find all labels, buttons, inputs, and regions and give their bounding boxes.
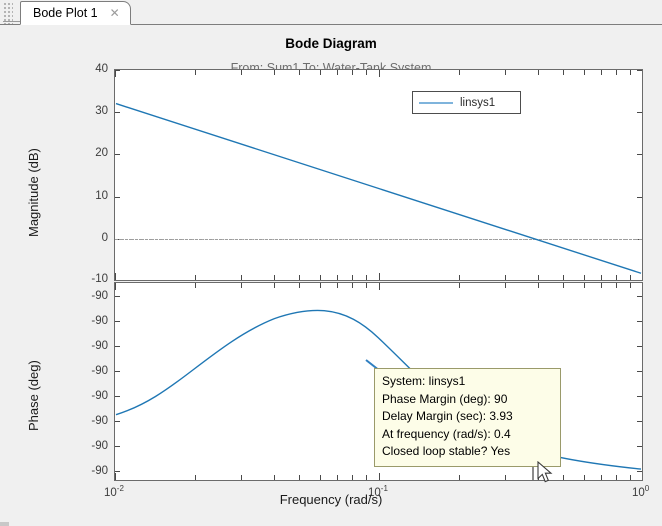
tab-label: Bode Plot 1 [33, 6, 98, 20]
tick-mark [642, 283, 643, 290]
legend[interactable]: linsys1 [412, 91, 521, 114]
tick-label: -90 [68, 340, 108, 352]
magnitude-axes[interactable] [114, 69, 643, 281]
mouse-cursor-icon [537, 461, 553, 485]
tick-label: -90 [68, 290, 108, 302]
tab-bar-divider [3, 21, 21, 22]
close-icon[interactable]: ✕ [108, 7, 122, 19]
tick-label: -90 [68, 390, 108, 402]
frequency-axis-label: Frequency (rad/s) [0, 492, 662, 507]
drag-handle-grip-icon[interactable] [4, 3, 13, 21]
tick-mark [115, 280, 120, 281]
datatip-line-frequency: At frequency (rad/s): 0.4 [382, 426, 554, 444]
tick-mark [642, 70, 643, 77]
datatip-line-stability: Closed loop stable? Yes [382, 443, 554, 461]
datatip-line-system: System: linsys1 [382, 373, 554, 391]
page-title: Bode Diagram [0, 36, 662, 51]
legend-label: linsys1 [460, 97, 495, 109]
tab-bar: Bode Plot 1 ✕ [0, 0, 662, 25]
tab-bode-plot-1[interactable]: Bode Plot 1 ✕ [20, 1, 131, 25]
magnitude-axis-label: Magnitude (dB) [26, 148, 41, 237]
tick-label: -90 [68, 440, 108, 452]
tick-label: 0 [68, 232, 108, 244]
tick-label: -90 [68, 365, 108, 377]
tick-label: -10 [68, 273, 108, 285]
bode-plot-window: Bode Plot 1 ✕ Bode Diagram From: Sum1 To… [0, 0, 662, 526]
tick-label: 10 [68, 190, 108, 202]
datatip-line-delay-margin: Delay Margin (sec): 3.93 [382, 408, 554, 426]
legend-color-swatch [419, 102, 453, 104]
tick-label: -90 [68, 465, 108, 477]
datatip-line-phase-margin: Phase Margin (deg): 90 [382, 391, 554, 409]
tick-label: 40 [68, 63, 108, 75]
tick-mark [642, 473, 643, 480]
tick-label: -90 [68, 415, 108, 427]
tick-label: -90 [68, 315, 108, 327]
datatip-tooltip[interactable]: System: linsys1 Phase Margin (deg): 90 D… [374, 368, 561, 467]
tick-label: 30 [68, 105, 108, 117]
magnitude-trace [115, 70, 642, 280]
phase-axis-label: Phase (deg) [26, 360, 41, 431]
tick-mark [637, 280, 642, 281]
figure-canvas: Bode Diagram From: Sum1 To: Water-Tank S… [0, 25, 662, 526]
figure-corner-handle [0, 522, 9, 526]
tick-mark [642, 273, 643, 280]
tick-label: 20 [68, 147, 108, 159]
